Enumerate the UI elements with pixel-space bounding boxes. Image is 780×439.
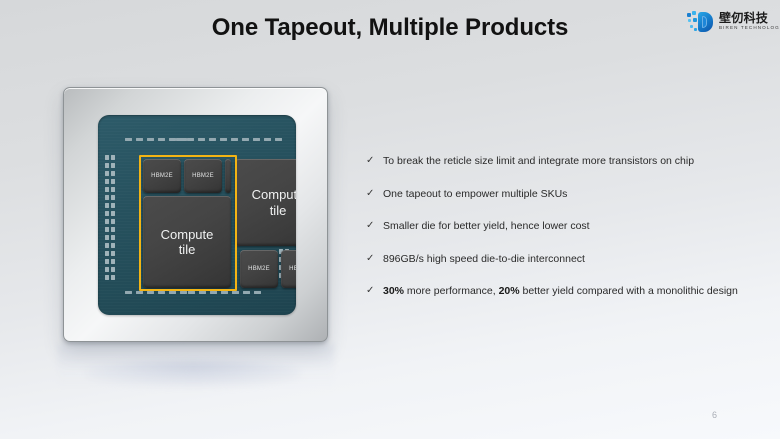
trace-row-bottom-right [188, 291, 261, 294]
chip-reflection-shadow [86, 360, 301, 386]
list-item: ✓ 896GB/s high speed die-to-die intercon… [366, 253, 766, 266]
pad-column-left-outer [105, 155, 109, 280]
list-item: ✓ To break the reticle size limit and in… [366, 155, 766, 168]
list-item: ✓ One tapeout to empower multiple SKUs [366, 188, 766, 201]
check-icon: ✓ [366, 155, 383, 167]
list-item: ✓ 30% more performance, 20% better yield… [366, 285, 766, 298]
page-number: 6 [712, 410, 717, 420]
check-icon: ✓ [366, 253, 383, 265]
single-tile-variant-highlight-box [139, 155, 237, 291]
bullet-text: One tapeout to empower multiple SKUs [383, 188, 766, 201]
check-icon: ✓ [366, 188, 383, 200]
die-label: Compute tile [252, 187, 296, 218]
bullet-text: To break the reticle size limit and inte… [383, 155, 766, 168]
chip-package: HBM2E HBM2E Compute tile Compute tile HB… [63, 87, 328, 342]
bullet-list: ✓ To break the reticle size limit and in… [366, 155, 766, 318]
list-item: ✓ Smaller die for better yield, hence lo… [366, 220, 766, 233]
presentation-slide: 壁仞科技 BIREN TECHNOLOGY One Tapeout, Multi… [0, 0, 780, 439]
die-label-line2: tile [270, 203, 287, 218]
bullet-text: 896GB/s high speed die-to-die interconne… [383, 253, 766, 266]
die-hbm-bottom-right-1: HBM2E [240, 250, 278, 288]
die-label-line1: Compute [252, 187, 296, 202]
bullet-text: Smaller die for better yield, hence lowe… [383, 220, 766, 233]
trace-row-top-right [176, 138, 282, 141]
check-icon: ✓ [366, 285, 383, 297]
die-label: HBM2E [248, 266, 270, 272]
pad-column-left-inner [111, 155, 115, 280]
die-label: HBM2E [289, 266, 296, 272]
check-icon: ✓ [366, 220, 383, 232]
bullet-text: 30% more performance, 20% better yield c… [383, 285, 766, 298]
chip-substrate-interposer: HBM2E HBM2E Compute tile Compute tile HB… [98, 115, 296, 315]
page-title: One Tapeout, Multiple Products [0, 14, 780, 42]
die-hbm-bottom-right-2: HBM2E [281, 250, 296, 288]
trace-row-bottom-left [125, 291, 187, 294]
die-compute-tile-right: Compute tile [235, 159, 296, 246]
